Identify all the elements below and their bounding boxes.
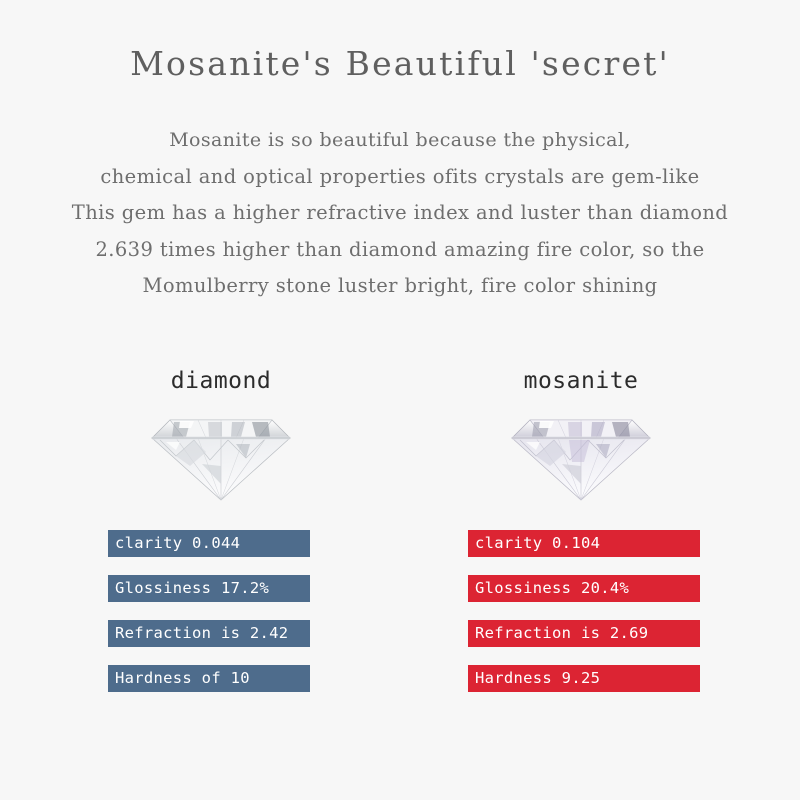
gem-label-mosanite: mosanite — [416, 366, 746, 396]
comparison-section: diamond — [0, 366, 800, 706]
intro-line-4: 2.639 times higher than diamond amazing … — [0, 232, 800, 269]
spec-bar-hardness: Hardness of 10 — [108, 665, 310, 692]
spec-bar-clarity: clarity 0.044 — [108, 530, 310, 557]
spec-bar-hardness: Hardness 9.25 — [468, 665, 700, 692]
spec-bar-clarity: clarity 0.104 — [468, 530, 700, 557]
product-infographic-page: Mosanite's Beautiful 'secret' Mosanite i… — [0, 0, 800, 800]
gem-image-mosanite-wrapper — [416, 400, 746, 508]
spec-bars-mosanite: clarity 0.104 Glossiness 20.4% Refractio… — [416, 530, 746, 692]
spec-bar-glossiness: Glossiness 17.2% — [108, 575, 310, 602]
comparison-column-diamond: diamond — [56, 366, 386, 692]
brilliant-cut-moissanite-icon — [506, 404, 656, 504]
spec-bar-glossiness: Glossiness 20.4% — [468, 575, 700, 602]
gem-image-diamond-wrapper — [56, 400, 386, 508]
intro-paragraph: Mosanite is so beautiful because the phy… — [0, 122, 800, 305]
intro-line-1: Mosanite is so beautiful because the phy… — [0, 122, 800, 159]
page-title: Mosanite's Beautiful 'secret' — [0, 44, 800, 83]
gem-label-diamond: diamond — [56, 366, 386, 396]
spec-bar-refraction: Refraction is 2.42 — [108, 620, 310, 647]
intro-line-3: This gem has a higher refractive index a… — [0, 195, 800, 232]
comparison-column-mosanite: mosanite — [416, 366, 746, 692]
spec-bar-refraction: Refraction is 2.69 — [468, 620, 700, 647]
brilliant-cut-diamond-icon — [146, 404, 296, 504]
spec-bars-diamond: clarity 0.044 Glossiness 17.2% Refractio… — [56, 530, 386, 692]
intro-line-5: Momulberry stone luster bright, fire col… — [0, 268, 800, 305]
intro-line-2: chemical and optical properties ofits cr… — [0, 159, 800, 196]
